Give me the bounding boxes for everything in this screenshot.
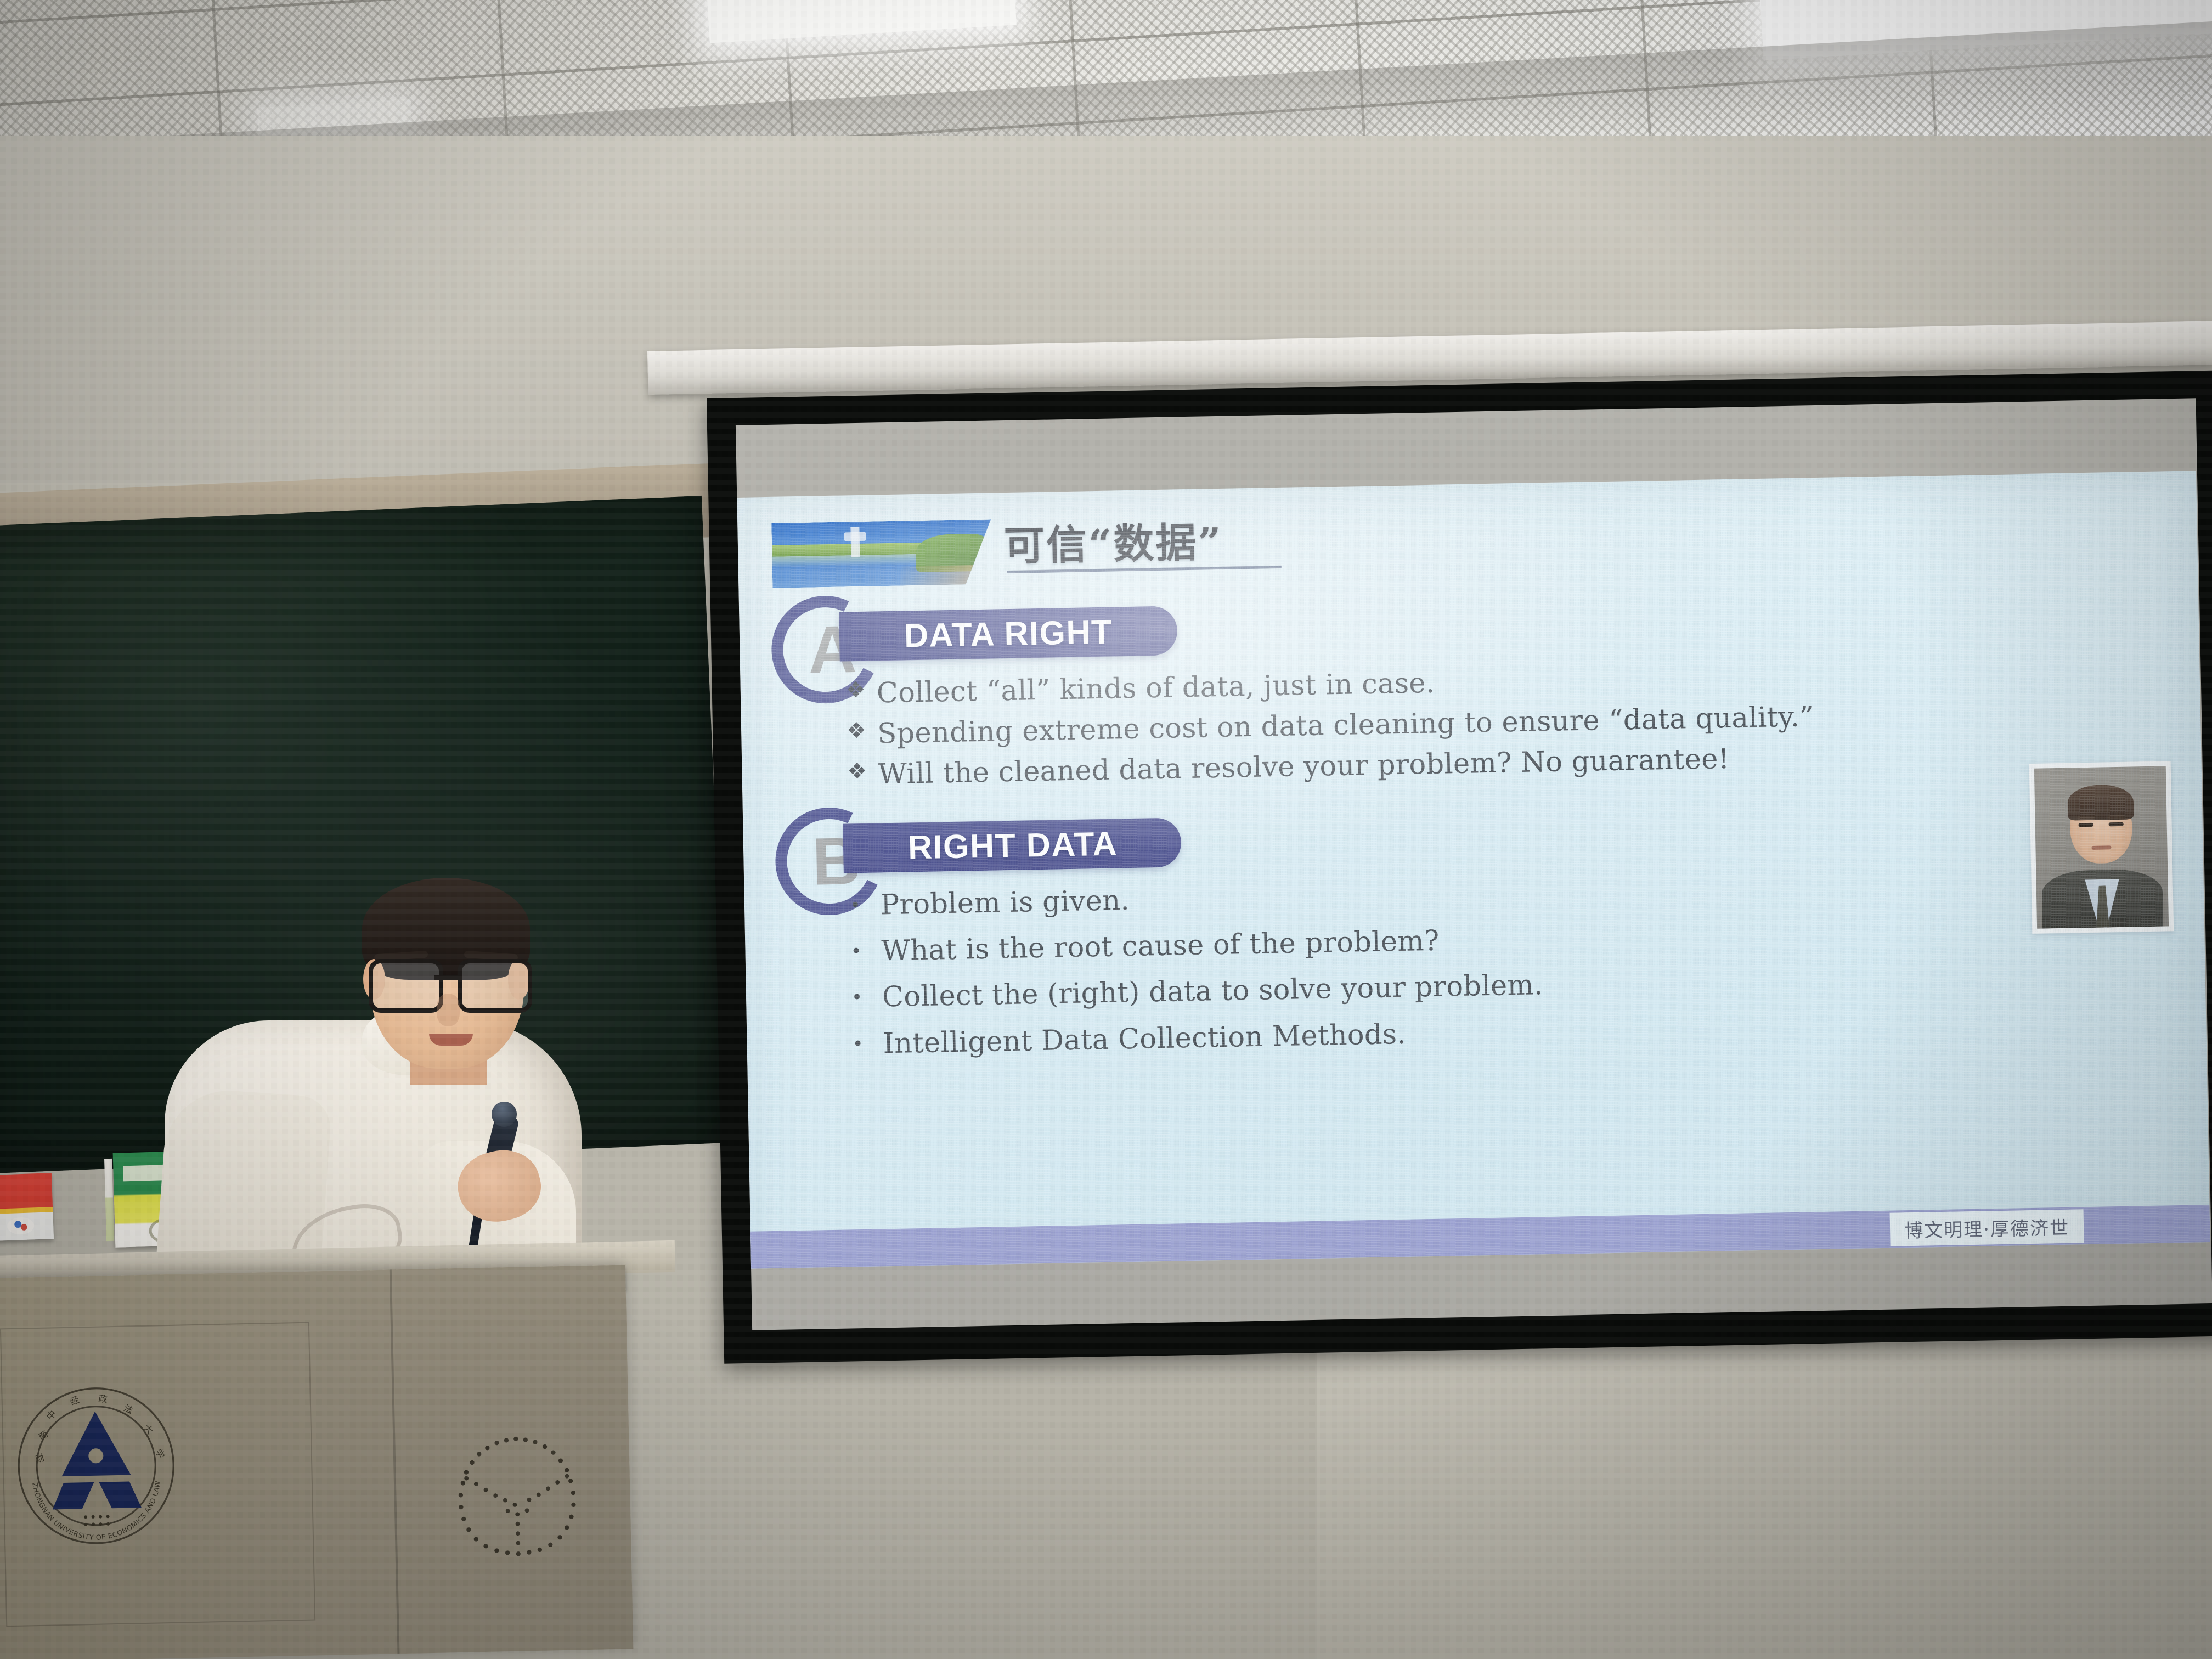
desk-item-red-box	[0, 1173, 54, 1241]
section-heading-a-label: DATA RIGHT	[839, 613, 1113, 656]
svg-text:ZHONGNAN UNIVERSITY OF ECONOMI: ZHONGNAN UNIVERSITY OF ECONOMICS AND LAW	[31, 1480, 163, 1543]
slide-content: 可信“数据” A DATA RIGHT ❖ Collect “all” kind…	[737, 471, 2210, 1269]
bullet-text: Will the cleaned data resolve your probl…	[878, 743, 1730, 792]
screen-surface: 可信“数据” A DATA RIGHT ❖ Collect “all” kind…	[736, 398, 2212, 1330]
svg-text:大: 大	[142, 1423, 155, 1436]
presenter-mouth	[429, 1034, 473, 1046]
list-item: • Problem is given.	[849, 867, 2046, 922]
slide-footer-motto: 博文明理·厚德济世	[1890, 1209, 2084, 1246]
svg-text:中: 中	[44, 1408, 58, 1422]
section-heading-a: DATA RIGHT	[839, 606, 1178, 661]
projected-slide: 可信“数据” A DATA RIGHT ❖ Collect “all” kind…	[737, 471, 2210, 1269]
bullet-text: Collect “all” kinds of data, just in cas…	[876, 667, 1435, 710]
bullet-marker-icon: •	[852, 1028, 883, 1055]
svg-text:经: 经	[69, 1394, 81, 1407]
bullet-marker-icon: ❖	[845, 677, 877, 703]
list-item: • Collect the (right) data to solve your…	[851, 960, 2048, 1015]
section-heading-b-label: RIGHT DATA	[843, 824, 1118, 867]
bullet-marker-icon: •	[850, 935, 882, 963]
bullet-text: Problem is given.	[880, 884, 1130, 922]
svg-text:政: 政	[98, 1393, 108, 1405]
podium: 中 南 财 经 政 法 大 学 ZHONGNAN UNIVERSITY OF E…	[0, 1265, 633, 1659]
slide-footer-band: 博文明理·厚德济世	[751, 1205, 2210, 1269]
bullet-marker-icon: ❖	[847, 759, 878, 785]
projection-screen: 可信“数据” A DATA RIGHT ❖ Collect “all” kind…	[707, 370, 2212, 1363]
podium-speaker-grille-icon	[442, 1430, 592, 1565]
section-heading-b: RIGHT DATA	[843, 817, 1182, 873]
bullet-text: Spending extreme cost on data cleaning t…	[877, 701, 1814, 751]
podium-edge	[390, 1269, 400, 1654]
bullet-marker-icon: •	[849, 889, 881, 916]
university-emblem-icon: 中 南 财 经 政 法 大 学 ZHONGNAN UNIVERSITY OF E…	[12, 1382, 180, 1550]
bullet-marker-icon: •	[851, 981, 883, 1009]
portrait-photo	[2029, 761, 2174, 934]
bullet-marker-icon: ❖	[847, 718, 878, 744]
lecture-hall-photo: 可信“数据” A DATA RIGHT ❖ Collect “all” kind…	[0, 0, 2212, 1659]
bullet-text: Intelligent Data Collection Methods.	[883, 1018, 1406, 1060]
slide-title: 可信“数据”	[1003, 510, 1223, 572]
slide-banner-image	[771, 520, 992, 588]
bullet-text: What is the root cause of the problem?	[881, 925, 1440, 968]
list-item: • Intelligent Data Collection Methods.	[852, 1006, 2049, 1061]
bullet-list-b: • Problem is given. • What is the root c…	[849, 867, 2049, 1074]
presenter-nose	[437, 994, 460, 1026]
bullet-text: Collect the (right) data to solve your p…	[882, 969, 1544, 1014]
bullet-list-a: ❖ Collect “all” kinds of data, just in c…	[845, 654, 2153, 800]
list-item: • What is the root cause of the problem?	[850, 914, 2047, 969]
